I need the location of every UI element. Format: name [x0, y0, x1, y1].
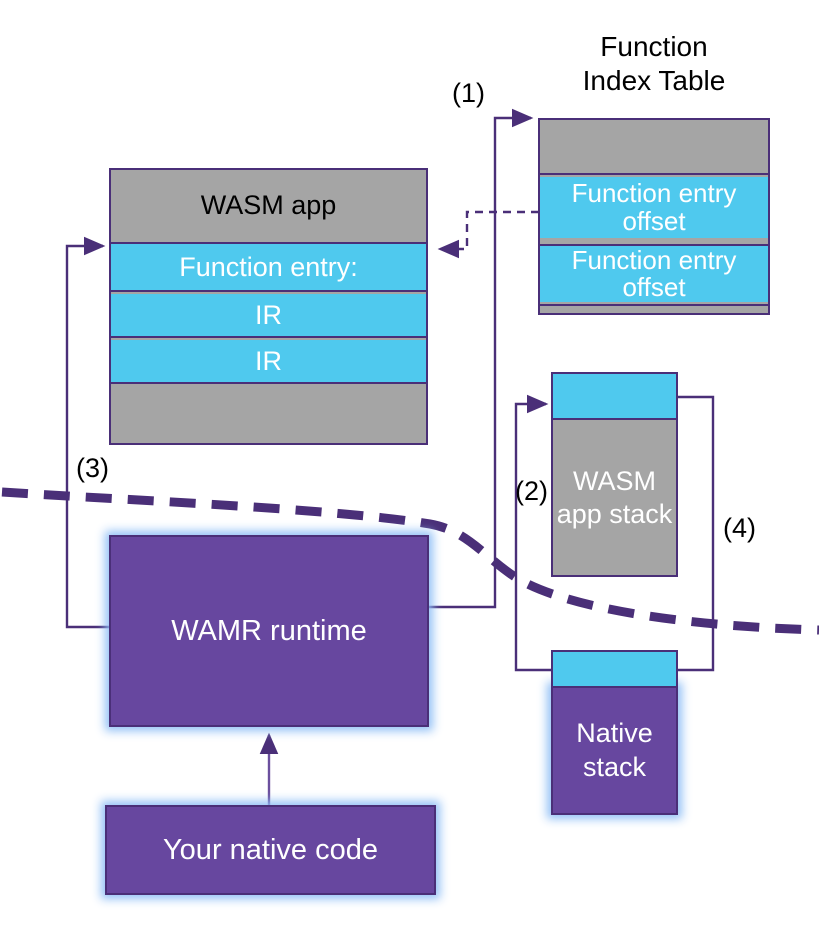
wasm-app-ir-row-1: IR — [111, 294, 426, 338]
native-stack-block: Native stack — [551, 650, 678, 815]
wasm-app-header: WASM app — [111, 170, 426, 240]
function-index-table-title: Function Index Table — [538, 30, 770, 98]
wasm-app-stack-body: WASM app stack — [551, 418, 678, 577]
step-label-4: (4) — [723, 513, 756, 544]
wamr-runtime-box: WAMR runtime — [109, 535, 429, 727]
fit-header-row — [540, 120, 768, 175]
wire-step1-solid — [419, 118, 531, 613]
wasm-app-stack-top-cell — [551, 372, 678, 420]
step-label-2: (2) — [515, 476, 548, 507]
function-index-table-block: Function entry offset Function entry off… — [538, 118, 770, 315]
fit-entry-row-1: Function entry offset — [540, 177, 768, 238]
wasm-app-function-entry-row: Function entry: — [111, 242, 426, 292]
wire-step3 — [67, 246, 110, 627]
fit-footer-row — [540, 304, 768, 313]
step-label-1: (1) — [452, 78, 485, 109]
wasm-app-stack-block: WASM app stack — [551, 372, 678, 577]
your-native-code-box: Your native code — [105, 805, 436, 895]
wasm-app-footer-row — [111, 386, 426, 443]
wasm-app-ir-row-2: IR — [111, 340, 426, 384]
wasm-app-block: WASM app Function entry: IR IR — [109, 168, 428, 445]
fit-entry-row-2: Function entry offset — [540, 244, 768, 302]
native-stack-top-cell — [551, 650, 678, 688]
step-label-3: (3) — [76, 453, 109, 484]
native-stack-body: Native stack — [551, 686, 678, 815]
diagram-canvas: Function Index Table WASM app Function e… — [0, 0, 819, 925]
